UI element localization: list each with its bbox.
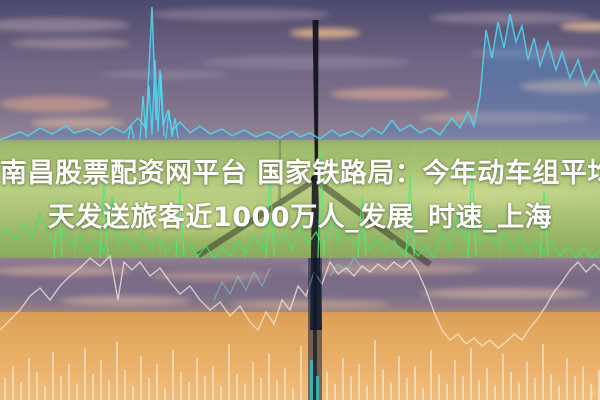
caption-line-1: 南昌股票配资网平台 国家铁路局：今年动车组平均每 — [0, 152, 600, 196]
watermark: φ — [590, 388, 595, 397]
caption-overlay: 南昌股票配资网平台 国家铁路局：今年动车组平均每 天发送旅客近1000万人_发展… — [0, 152, 600, 240]
caption-line-2: 天发送旅客近1000万人_发展_时速_上海 — [0, 196, 600, 240]
thumbnail-image: 南昌股票配资网平台 国家铁路局：今年动车组平均每 天发送旅客近1000万人_发展… — [0, 0, 600, 400]
